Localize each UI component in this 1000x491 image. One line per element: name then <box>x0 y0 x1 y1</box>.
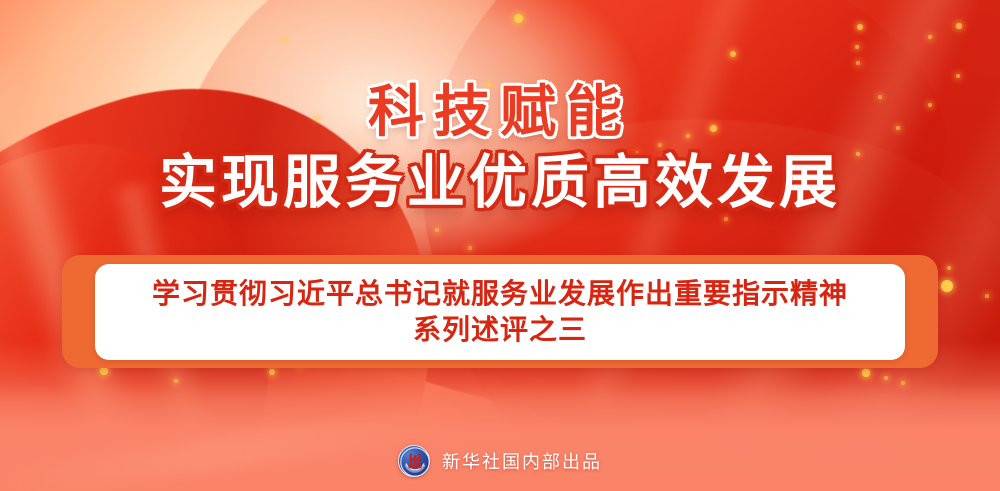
headline-line-1: 科技赋能 <box>0 84 1000 140</box>
gold-particle <box>724 217 728 221</box>
gold-particle <box>514 14 523 23</box>
subtitle-line-1: 学习贯彻习近平总书记就服务业发展作出重要指示精神 <box>152 276 848 312</box>
gold-particle <box>985 294 988 297</box>
footer-credit-text: 新华社国内部出品 <box>442 448 602 474</box>
poster-canvas: 科技赋能 实现服务业优质高效发展 学习贯彻习近平总书记就服务业发展作出重要指示精… <box>0 0 1000 491</box>
gold-particle <box>956 23 961 28</box>
gold-particle <box>856 61 859 64</box>
gold-particle <box>174 379 178 383</box>
xinhua-logo-icon <box>398 445 430 477</box>
gold-particle <box>941 280 953 292</box>
gold-particle <box>956 74 960 78</box>
gold-particle <box>435 228 439 232</box>
gold-particle <box>269 369 275 375</box>
gold-particle <box>468 246 471 249</box>
subtitle-line-2: 系列述评之三 <box>413 312 587 348</box>
gold-particle <box>901 381 904 384</box>
headline-block: 科技赋能 实现服务业优质高效发展 <box>0 84 1000 212</box>
subtitle-box-inner: 学习贯彻习近平总书记就服务业发展作出重要指示精神 系列述评之三 <box>95 264 905 360</box>
headline-line-2: 实现服务业优质高效发展 <box>0 154 1000 212</box>
gold-particle <box>100 367 107 374</box>
gold-particle <box>947 266 951 270</box>
footer-credit: 新华社国内部出品 <box>0 445 1000 477</box>
gold-particle <box>730 51 736 57</box>
gold-particle <box>857 24 863 30</box>
gold-particle <box>862 369 869 376</box>
gold-particle <box>884 376 888 380</box>
